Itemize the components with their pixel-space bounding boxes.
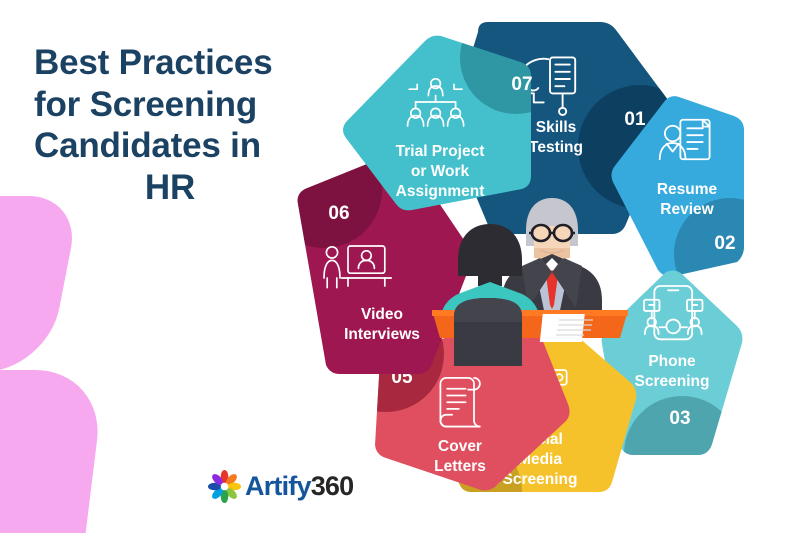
logo-name-primary: Artify (245, 471, 311, 501)
background-blob-top (0, 196, 81, 372)
segment-02-label-line-1: Resume (657, 181, 718, 198)
title-line-2: for Screening (34, 84, 306, 126)
segment-01-label-line-2: Testing (529, 139, 583, 156)
title-line-3: Candidates in (34, 125, 306, 167)
pinwheel-icon (208, 470, 241, 503)
segment-01-number: 01 (624, 109, 646, 130)
title-line-1: Best Practices (34, 42, 306, 84)
infographic-canvas: Best Practices for Screening Candidates … (0, 0, 800, 533)
segment-03-label-line-2: Screening (635, 373, 710, 390)
brand-logo[interactable]: Artify360 (208, 470, 353, 503)
segment-07-label-line-1: Trial Project (396, 143, 485, 160)
background-blob-bottom (0, 370, 106, 533)
title-line-4: HR (34, 167, 306, 209)
segment-05-label-line-2: Letters (434, 458, 486, 475)
segment-06-number: 06 (328, 203, 349, 224)
segment-06-label-line-2: Interviews (344, 326, 420, 343)
chair (454, 298, 522, 366)
page-title: Best Practices for Screening Candidates … (34, 42, 306, 209)
segment-03-label-line-1: Phone (648, 353, 696, 370)
segment-06-label-line-1: Video (361, 306, 403, 323)
segment-07-number: 07 (511, 74, 532, 95)
segment-02-number: 02 (714, 233, 735, 254)
segment-01-label-line-1: Skills (536, 119, 577, 136)
segment-07-label-line-2: or Work (411, 163, 470, 180)
job-interview-illustration (430, 188, 630, 373)
segment-02-label-line-2: Review (660, 201, 714, 218)
segment-05-label-line-1: Cover (438, 438, 482, 455)
segment-04-label-line-3: Screening (503, 471, 578, 488)
segment-03-number: 03 (669, 408, 690, 429)
logo-name-secondary: 360 (311, 471, 354, 501)
